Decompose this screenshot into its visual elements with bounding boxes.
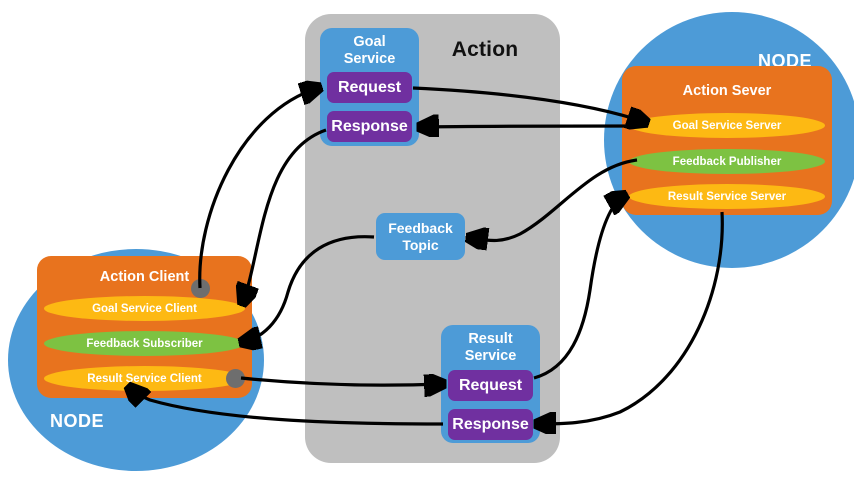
result-service-request[interactable]: Request (448, 370, 533, 401)
iface-label: Goal Service Client (92, 303, 197, 315)
iface-label: Goal Service Server (673, 120, 782, 132)
action-client-title: Action Client (37, 269, 252, 285)
result-service-response[interactable]: Response (448, 409, 533, 440)
feedback-topic-line1: Feedback (388, 220, 453, 236)
action-server-title: Action Sever (622, 83, 832, 99)
result-service-title: Result Service (441, 331, 540, 365)
goal-service-title-line1: Goal (353, 34, 385, 50)
iface-result-service-server[interactable]: Result Service Server (629, 184, 825, 209)
goal-service-title-line2: Service (344, 51, 396, 67)
diagram-canvas: Action NODE Action Sever Goal Service Se… (0, 0, 854, 480)
connector-dot-result-client (226, 369, 245, 388)
result-service-title-line1: Result (468, 331, 512, 347)
iface-goal-service-client[interactable]: Goal Service Client (44, 296, 245, 321)
iface-feedback-subscriber[interactable]: Feedback Subscriber (44, 331, 245, 356)
goal-service-request[interactable]: Request (327, 72, 412, 103)
iface-label: Result Service Client (87, 373, 201, 385)
goal-service-response[interactable]: Response (327, 111, 412, 142)
iface-goal-service-server[interactable]: Goal Service Server (629, 113, 825, 138)
feedback-topic-box[interactable]: Feedback Topic (376, 213, 465, 260)
connector-dot-goal-client (191, 279, 210, 298)
goal-service-title: Goal Service (320, 34, 419, 68)
result-service-title-line2: Service (465, 348, 517, 364)
iface-label: Feedback Subscriber (86, 338, 202, 350)
action-panel-title: Action (430, 38, 540, 62)
iface-feedback-publisher[interactable]: Feedback Publisher (629, 149, 825, 174)
iface-label: Feedback Publisher (673, 156, 782, 168)
feedback-topic-line2: Topic (402, 237, 438, 253)
iface-label: Result Service Server (668, 191, 786, 203)
client-node-label: NODE (50, 411, 104, 432)
iface-result-service-client[interactable]: Result Service Client (44, 366, 245, 391)
